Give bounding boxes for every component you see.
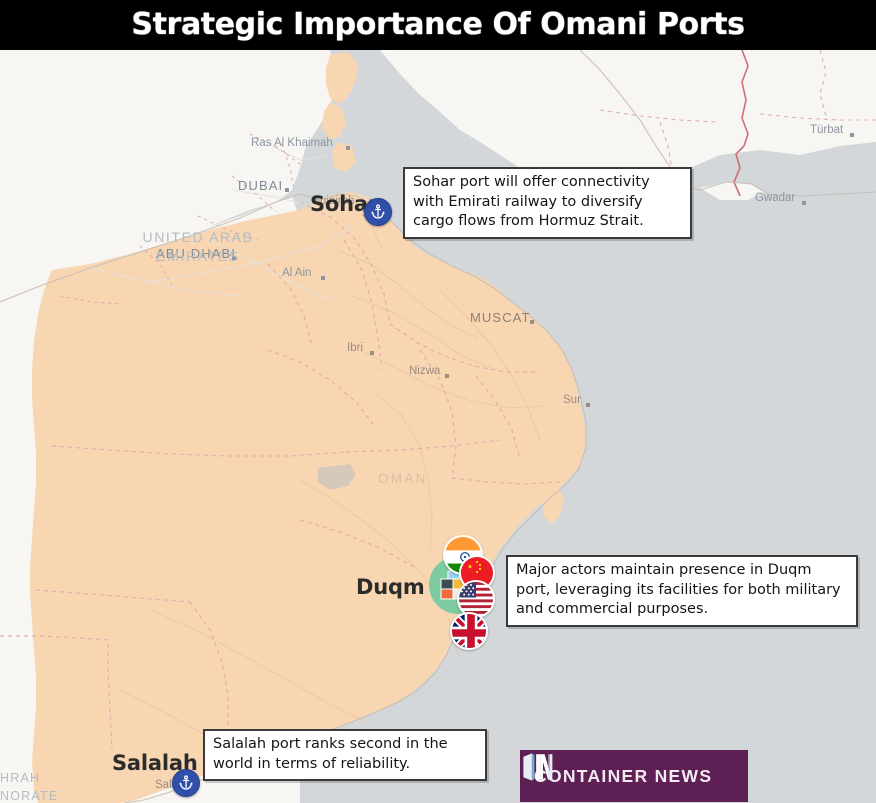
port-label-duqm: Duqm — [356, 575, 425, 599]
anchor-icon — [370, 204, 386, 220]
duqm-callout-text: Major actors maintain presence in Duqm p… — [516, 562, 841, 617]
brand-logo[interactable]: CONTAINER NEWS — [520, 750, 748, 802]
salalah-callout[interactable]: Salalah port ranks second in the world i… — [203, 729, 487, 781]
cn-monogram-icon — [520, 750, 554, 784]
infographic-root: Ras Al Khaimah DUBAI Fujairah ABU DHABI … — [0, 0, 876, 803]
page-title: Strategic Importance Of Omani Ports — [0, 0, 876, 50]
city-dot — [346, 146, 350, 150]
city-dot — [370, 351, 374, 355]
city-dot — [530, 320, 534, 324]
flag-uk[interactable] — [450, 612, 488, 650]
city-dot — [445, 374, 449, 378]
anchor-icon — [178, 775, 194, 791]
city-dot — [232, 256, 236, 260]
map-geometry — [0, 50, 876, 803]
brand-name: CONTAINER NEWS — [534, 766, 712, 787]
city-dot — [321, 276, 325, 280]
flag-uk-icon — [452, 614, 488, 650]
port-marker-sohar[interactable] — [364, 198, 392, 226]
port-marker-salalah[interactable] — [172, 769, 200, 797]
city-dot — [802, 201, 806, 205]
sohar-callout[interactable]: Sohar port will offer connectivity with … — [403, 167, 692, 239]
map-canvas[interactable]: Ras Al Khaimah DUBAI Fujairah ABU DHABI … — [0, 50, 876, 803]
duqm-callout[interactable]: Major actors maintain presence in Duqm p… — [506, 555, 858, 627]
header-bar: Strategic Importance Of Omani Ports — [0, 0, 876, 50]
salalah-callout-text: Salalah port ranks second in the world i… — [213, 736, 448, 772]
city-dot — [586, 403, 590, 407]
city-dot — [285, 188, 289, 192]
city-dot — [850, 133, 854, 137]
sohar-callout-text: Sohar port will offer connectivity with … — [413, 174, 650, 229]
